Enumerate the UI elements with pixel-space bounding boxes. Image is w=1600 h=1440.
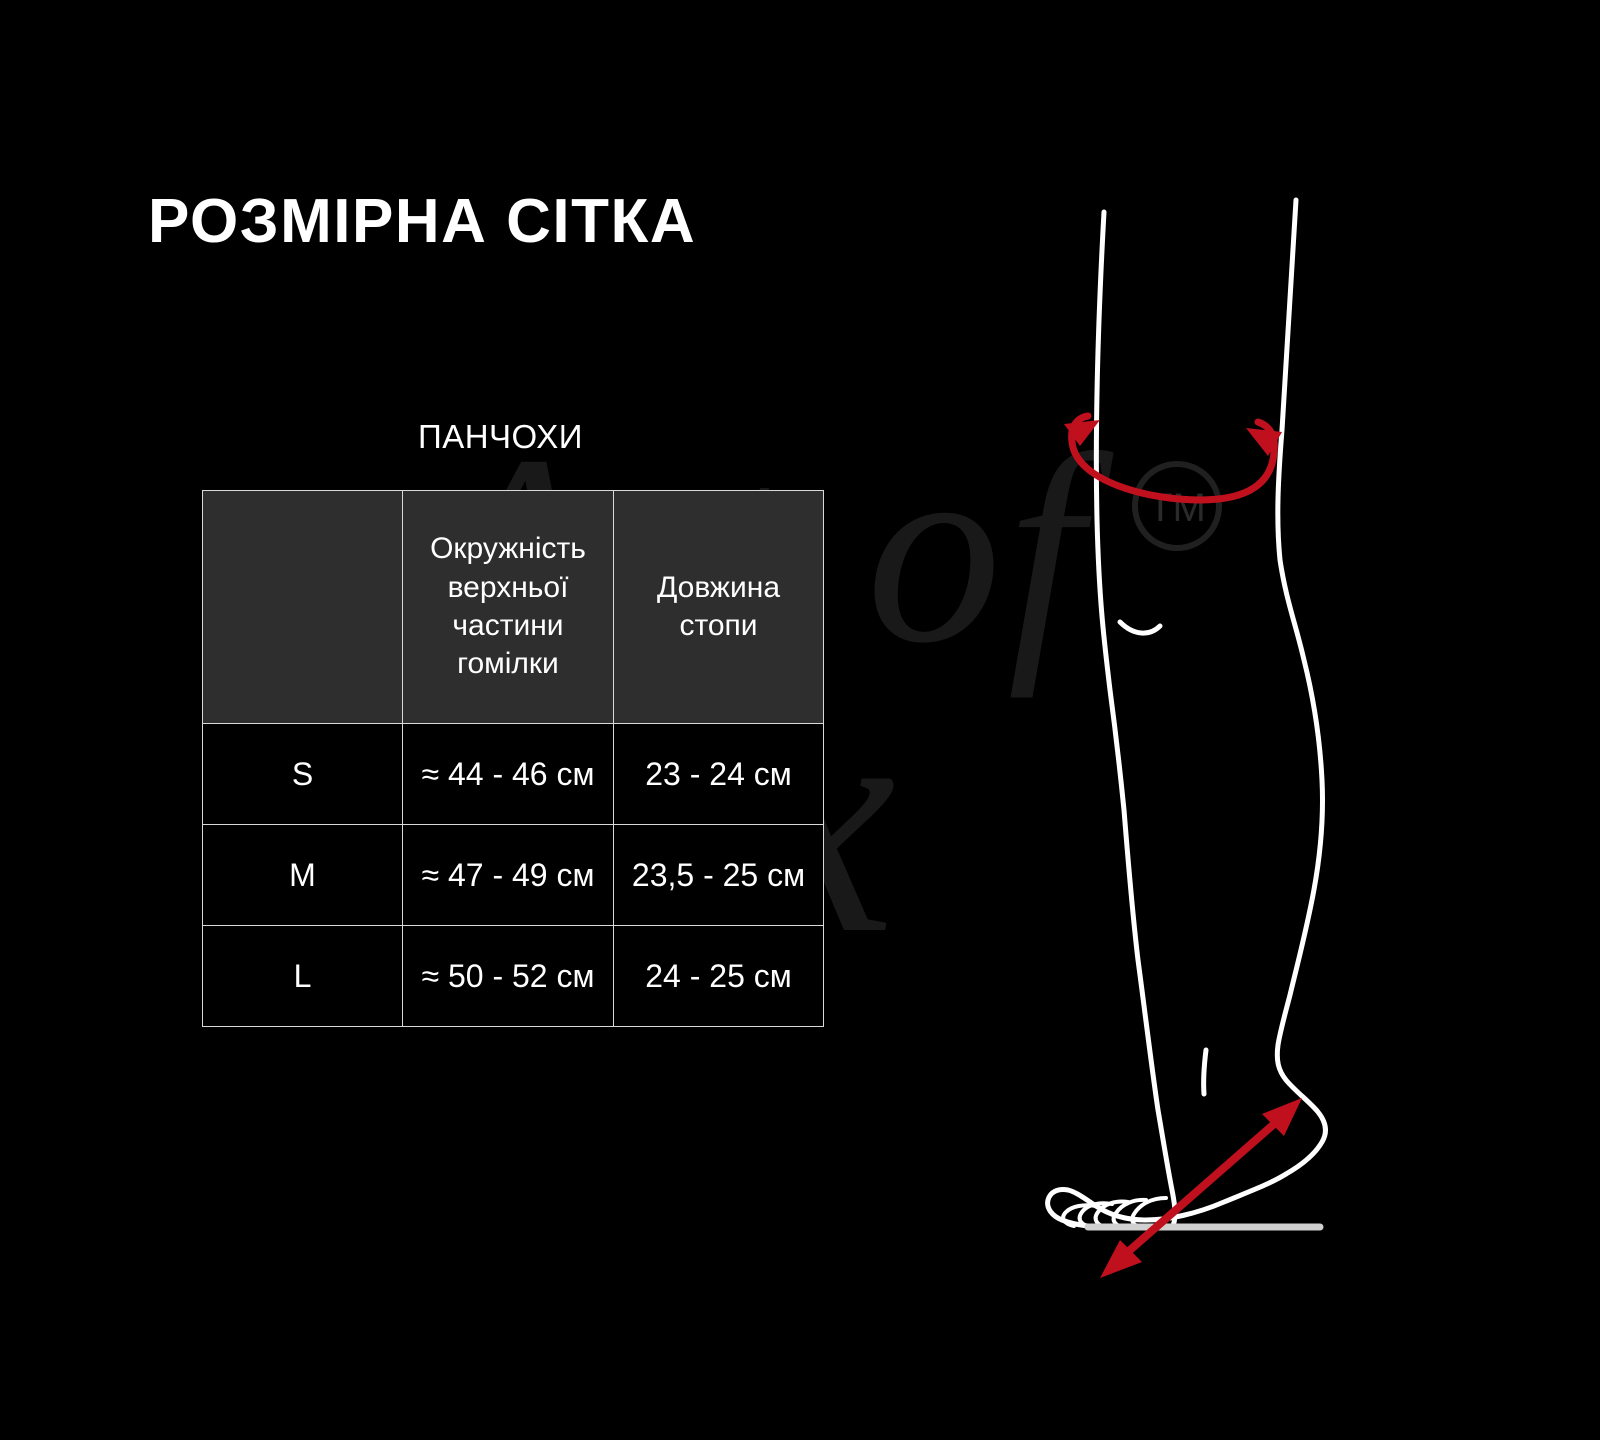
- table-row: L ≈ 50 - 52 см 24 - 25 см: [203, 926, 824, 1027]
- ankle-detail-icon: [1204, 1050, 1206, 1094]
- cell-circumference: ≈ 44 - 46 см: [403, 724, 614, 825]
- column-header-circumference: Окружність верхньої частини гомілки: [403, 491, 614, 724]
- cell-circumference: ≈ 47 - 49 см: [403, 825, 614, 926]
- table-header-row: Окружність верхньої частини гомілки Довж…: [203, 491, 824, 724]
- column-header-foot-length: Довжина стопи: [614, 491, 824, 724]
- foot-length-measure: [1100, 1098, 1302, 1278]
- table-row: S ≈ 44 - 46 см 23 - 24 см: [203, 724, 824, 825]
- cell-foot-length: 24 - 25 см: [614, 926, 824, 1027]
- table-row: M ≈ 47 - 49 см 23,5 - 25 см: [203, 825, 824, 926]
- leg-front-outline: [1096, 212, 1175, 1228]
- cell-foot-length: 23,5 - 25 см: [614, 825, 824, 926]
- cell-size: S: [203, 724, 403, 825]
- column-header-size: [203, 491, 403, 724]
- cell-foot-length: 23 - 24 см: [614, 724, 824, 825]
- cell-circumference: ≈ 50 - 52 см: [403, 926, 614, 1027]
- table-caption: ПАНЧОХИ: [202, 418, 823, 456]
- size-chart-table: Окружність верхньої частини гомілки Довж…: [202, 490, 824, 1027]
- leg-back-outline: [1277, 200, 1325, 1174]
- leg-measurement-diagram: [1000, 170, 1420, 1310]
- page-title: РОЗМІРНА СІТКА: [148, 186, 696, 257]
- knee-detail-icon: [1120, 622, 1160, 633]
- cell-size: L: [203, 926, 403, 1027]
- cell-size: M: [203, 825, 403, 926]
